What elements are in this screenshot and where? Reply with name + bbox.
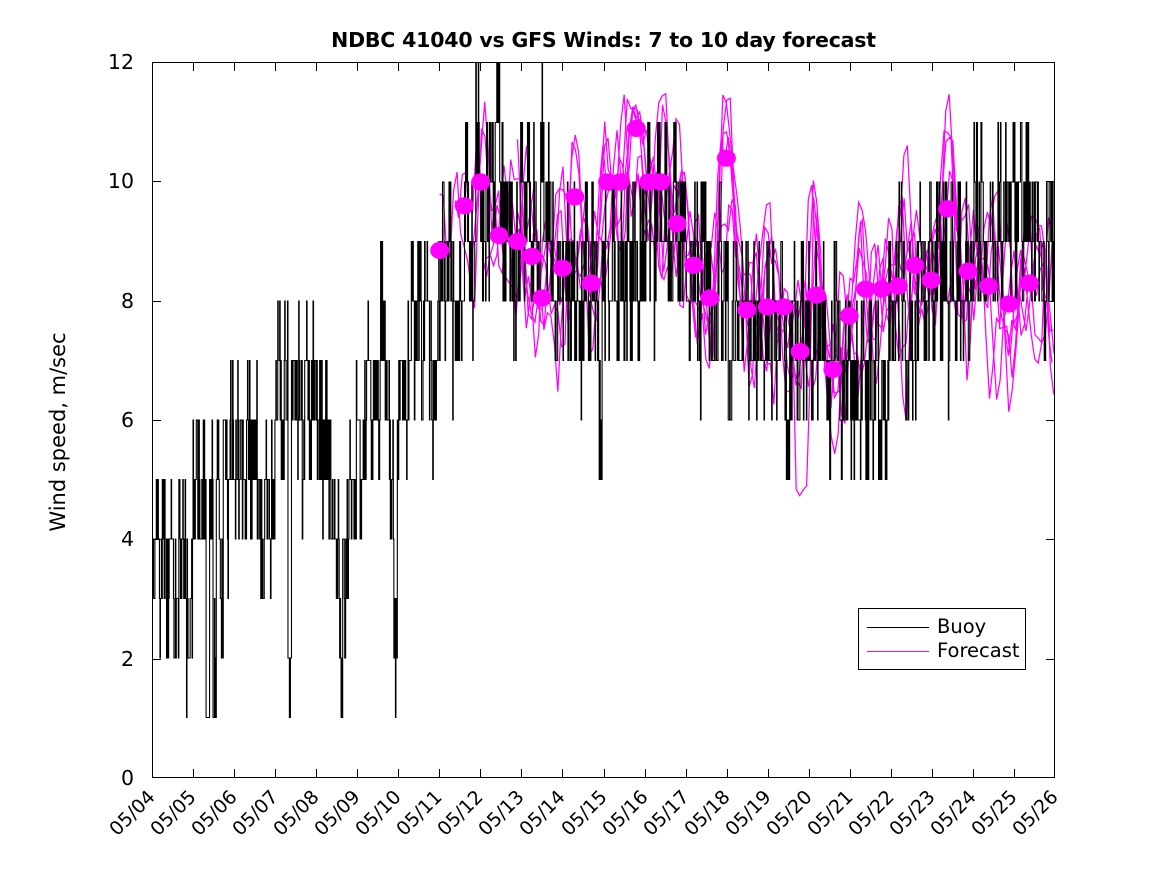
legend-label-forecast: Forecast <box>937 641 1020 661</box>
forecast-marker-dot <box>508 233 527 250</box>
forecast-marker-dot <box>774 298 793 315</box>
y-tick-label: 4 <box>121 529 134 550</box>
x-tick-label: 05/09 <box>310 786 364 840</box>
legend-item-buoy[interactable]: Buoy <box>867 615 1017 639</box>
x-tick-label: 05/14 <box>516 786 570 840</box>
y-tick-label: 0 <box>121 768 134 789</box>
x-tick-label: 05/21 <box>803 786 857 840</box>
page-title: NDBC 41040 vs GFS Winds: 7 to 10 day for… <box>152 28 1055 52</box>
forecast-marker-dot <box>889 278 908 295</box>
forecast-marker-dot <box>922 272 941 289</box>
legend-label-buoy: Buoy <box>937 617 986 637</box>
x-tick-label: 05/20 <box>762 786 816 840</box>
x-tick-label: 05/06 <box>187 786 241 840</box>
x-tick-label: 05/23 <box>885 786 939 840</box>
x-tick-label: 05/12 <box>434 786 488 840</box>
forecast-marker-dot <box>791 343 810 360</box>
x-tick-label: 05/22 <box>844 786 898 840</box>
legend: Buoy Forecast <box>858 608 1026 670</box>
forecast-marker-dot <box>758 298 777 315</box>
legend-line-forecast-icon <box>867 651 929 652</box>
forecast-marker-dot <box>668 215 687 232</box>
y-tick-label: 12 <box>108 52 134 73</box>
forecast-marker-dot <box>651 173 670 190</box>
y-tick-label: 6 <box>121 410 134 431</box>
legend-line-buoy-icon <box>867 627 929 628</box>
forecast-marker-dot <box>979 278 998 295</box>
forecast-marker-dot <box>856 281 875 298</box>
x-tick-label: 05/05 <box>146 786 200 840</box>
chart-figure: NDBC 41040 vs GFS Winds: 7 to 10 day for… <box>0 0 1167 875</box>
forecast-marker-dot <box>700 289 719 306</box>
x-tick-label: 05/24 <box>926 786 980 840</box>
x-tick-label: 05/26 <box>1008 786 1062 840</box>
forecast-marker-dot <box>582 275 601 292</box>
forecast-marker-dot <box>999 295 1018 312</box>
x-tick-label: 05/07 <box>228 786 282 840</box>
forecast-marker-dot <box>522 248 541 265</box>
forecast-marker-dot <box>455 197 474 214</box>
x-tick-label: 05/19 <box>721 786 775 840</box>
forecast-marker-dot <box>823 361 842 378</box>
forecast-marker-dot <box>1020 275 1039 292</box>
forecast-marker-dot <box>553 260 572 277</box>
forecast-marker-dot <box>717 150 736 167</box>
plot-area <box>152 62 1055 778</box>
forecast-marker-dot <box>840 307 859 324</box>
y-tick-label: 10 <box>108 171 134 192</box>
forecast-marker-dot <box>533 289 552 306</box>
x-tick-label: 05/08 <box>269 786 323 840</box>
forecast-marker-dot <box>610 173 629 190</box>
x-tick-label: 05/13 <box>475 786 529 840</box>
x-tick-label: 05/15 <box>557 786 611 840</box>
x-tick-label: 05/17 <box>639 786 693 840</box>
forecast-marker-dot <box>684 257 703 274</box>
forecast-marker-dot <box>737 301 756 318</box>
y-tick-label: 2 <box>121 648 134 669</box>
x-tick-label: 05/18 <box>680 786 734 840</box>
forecast-marker-dot <box>905 257 924 274</box>
y-tick-label: 8 <box>121 290 134 311</box>
forecast-marker-dot <box>807 286 826 303</box>
forecast-marker-dot <box>565 188 584 205</box>
y-axis-label: Wind speed, m/sec <box>46 152 70 712</box>
x-tick-label: 05/11 <box>393 786 447 840</box>
forecast-marker-dot <box>938 200 957 217</box>
forecast-marker-dot <box>490 227 509 244</box>
forecast-marker-dot <box>959 263 978 280</box>
x-tick-label: 05/16 <box>598 786 652 840</box>
legend-item-forecast[interactable]: Forecast <box>867 639 1017 663</box>
forecast-marker-dot <box>872 281 891 298</box>
x-tick-label: 05/04 <box>105 786 159 840</box>
forecast-marker-dot <box>471 173 490 190</box>
forecast-marker-dot <box>430 242 449 259</box>
x-tick-label: 05/10 <box>352 786 406 840</box>
forecast-marker-dot <box>627 120 646 137</box>
x-tick-label: 05/25 <box>967 786 1021 840</box>
